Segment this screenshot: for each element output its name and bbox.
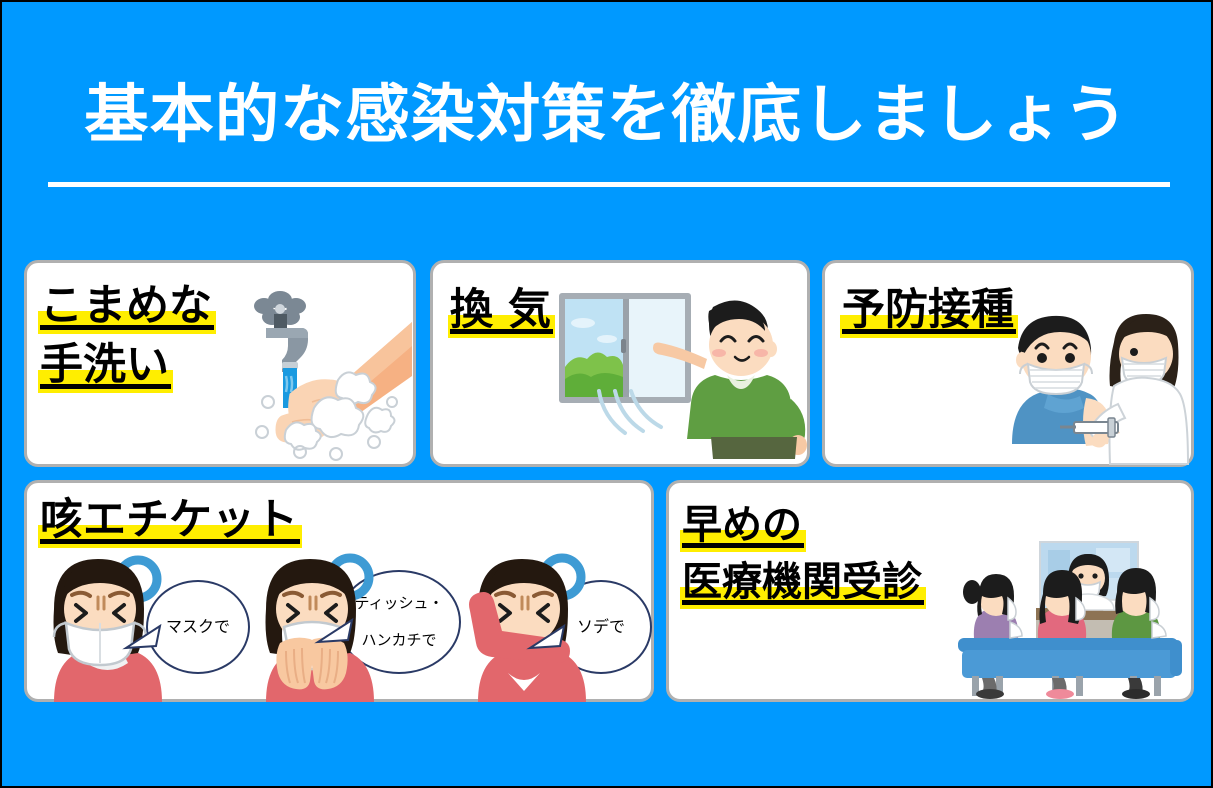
headline-vaccination: 予防接種 [842, 284, 1014, 336]
clinic-waiting-room-illustration [952, 534, 1187, 699]
title-divider [48, 182, 1170, 187]
handwashing-illustration [252, 284, 412, 459]
bubble-tail [526, 622, 566, 658]
black-underline [40, 325, 214, 330]
black-underline [682, 600, 924, 605]
headline-line: 手洗い [40, 339, 169, 391]
headline-handwash: こまめな 手洗い [40, 280, 212, 391]
page-title: 基本的な感染対策を徹底しましょう [2, 80, 1211, 150]
bubble-tail [314, 614, 354, 650]
bubble-tail [122, 622, 162, 658]
black-underline [450, 329, 553, 334]
headline-line: 医療機関受診 [682, 557, 922, 607]
headline-line: 咳エチケット [40, 494, 298, 546]
black-underline [40, 539, 300, 544]
window-ventilation-illustration [557, 287, 807, 462]
headline-line: こまめな [40, 280, 212, 332]
black-underline [40, 384, 171, 389]
vaccination-illustration [1002, 312, 1192, 464]
black-underline [682, 543, 804, 548]
headline-early-clinic-visit: 早めの 医療機関受診 [682, 500, 922, 607]
headline-line: 早めの [682, 500, 802, 550]
title-block: 基本的な感染対策を徹底しましょう [2, 80, 1211, 150]
headline-cough-etiquette: 咳エチケット [40, 494, 298, 550]
headline-line: 換 気 [450, 284, 551, 336]
poster-canvas: 基本的な感染対策を徹底しましょう こまめな 手洗い [2, 2, 1211, 786]
black-underline [842, 329, 1016, 334]
headline-ventilation: 換 気 [450, 284, 551, 336]
headline-line: 予防接種 [842, 284, 1014, 336]
